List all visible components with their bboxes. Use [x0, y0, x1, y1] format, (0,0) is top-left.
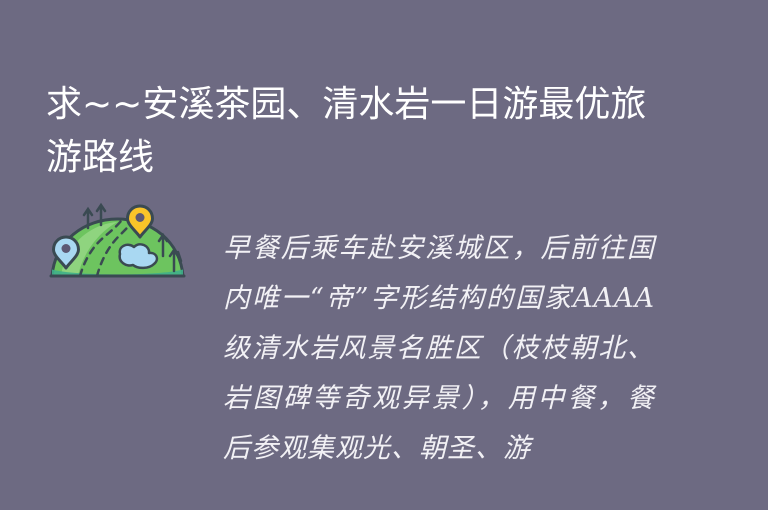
map-illustration-svg — [45, 200, 190, 282]
page-title: 求~~安溪茶园、清水岩一日游最优旅游路线 — [46, 78, 666, 184]
map-illustration-icon — [45, 200, 190, 282]
article-body-text: 早餐后乘车赴安溪城区，后前往国内唯一“帝”字形结构的国家AAAA级清水岩风景名胜… — [223, 224, 655, 474]
article-page: 求~~安溪茶园、清水岩一日游最优旅游路线 — [0, 0, 768, 510]
content-row: 早餐后乘车赴安溪城区，后前往国内唯一“帝”字形结构的国家AAAA级清水岩风景名胜… — [0, 195, 768, 510]
